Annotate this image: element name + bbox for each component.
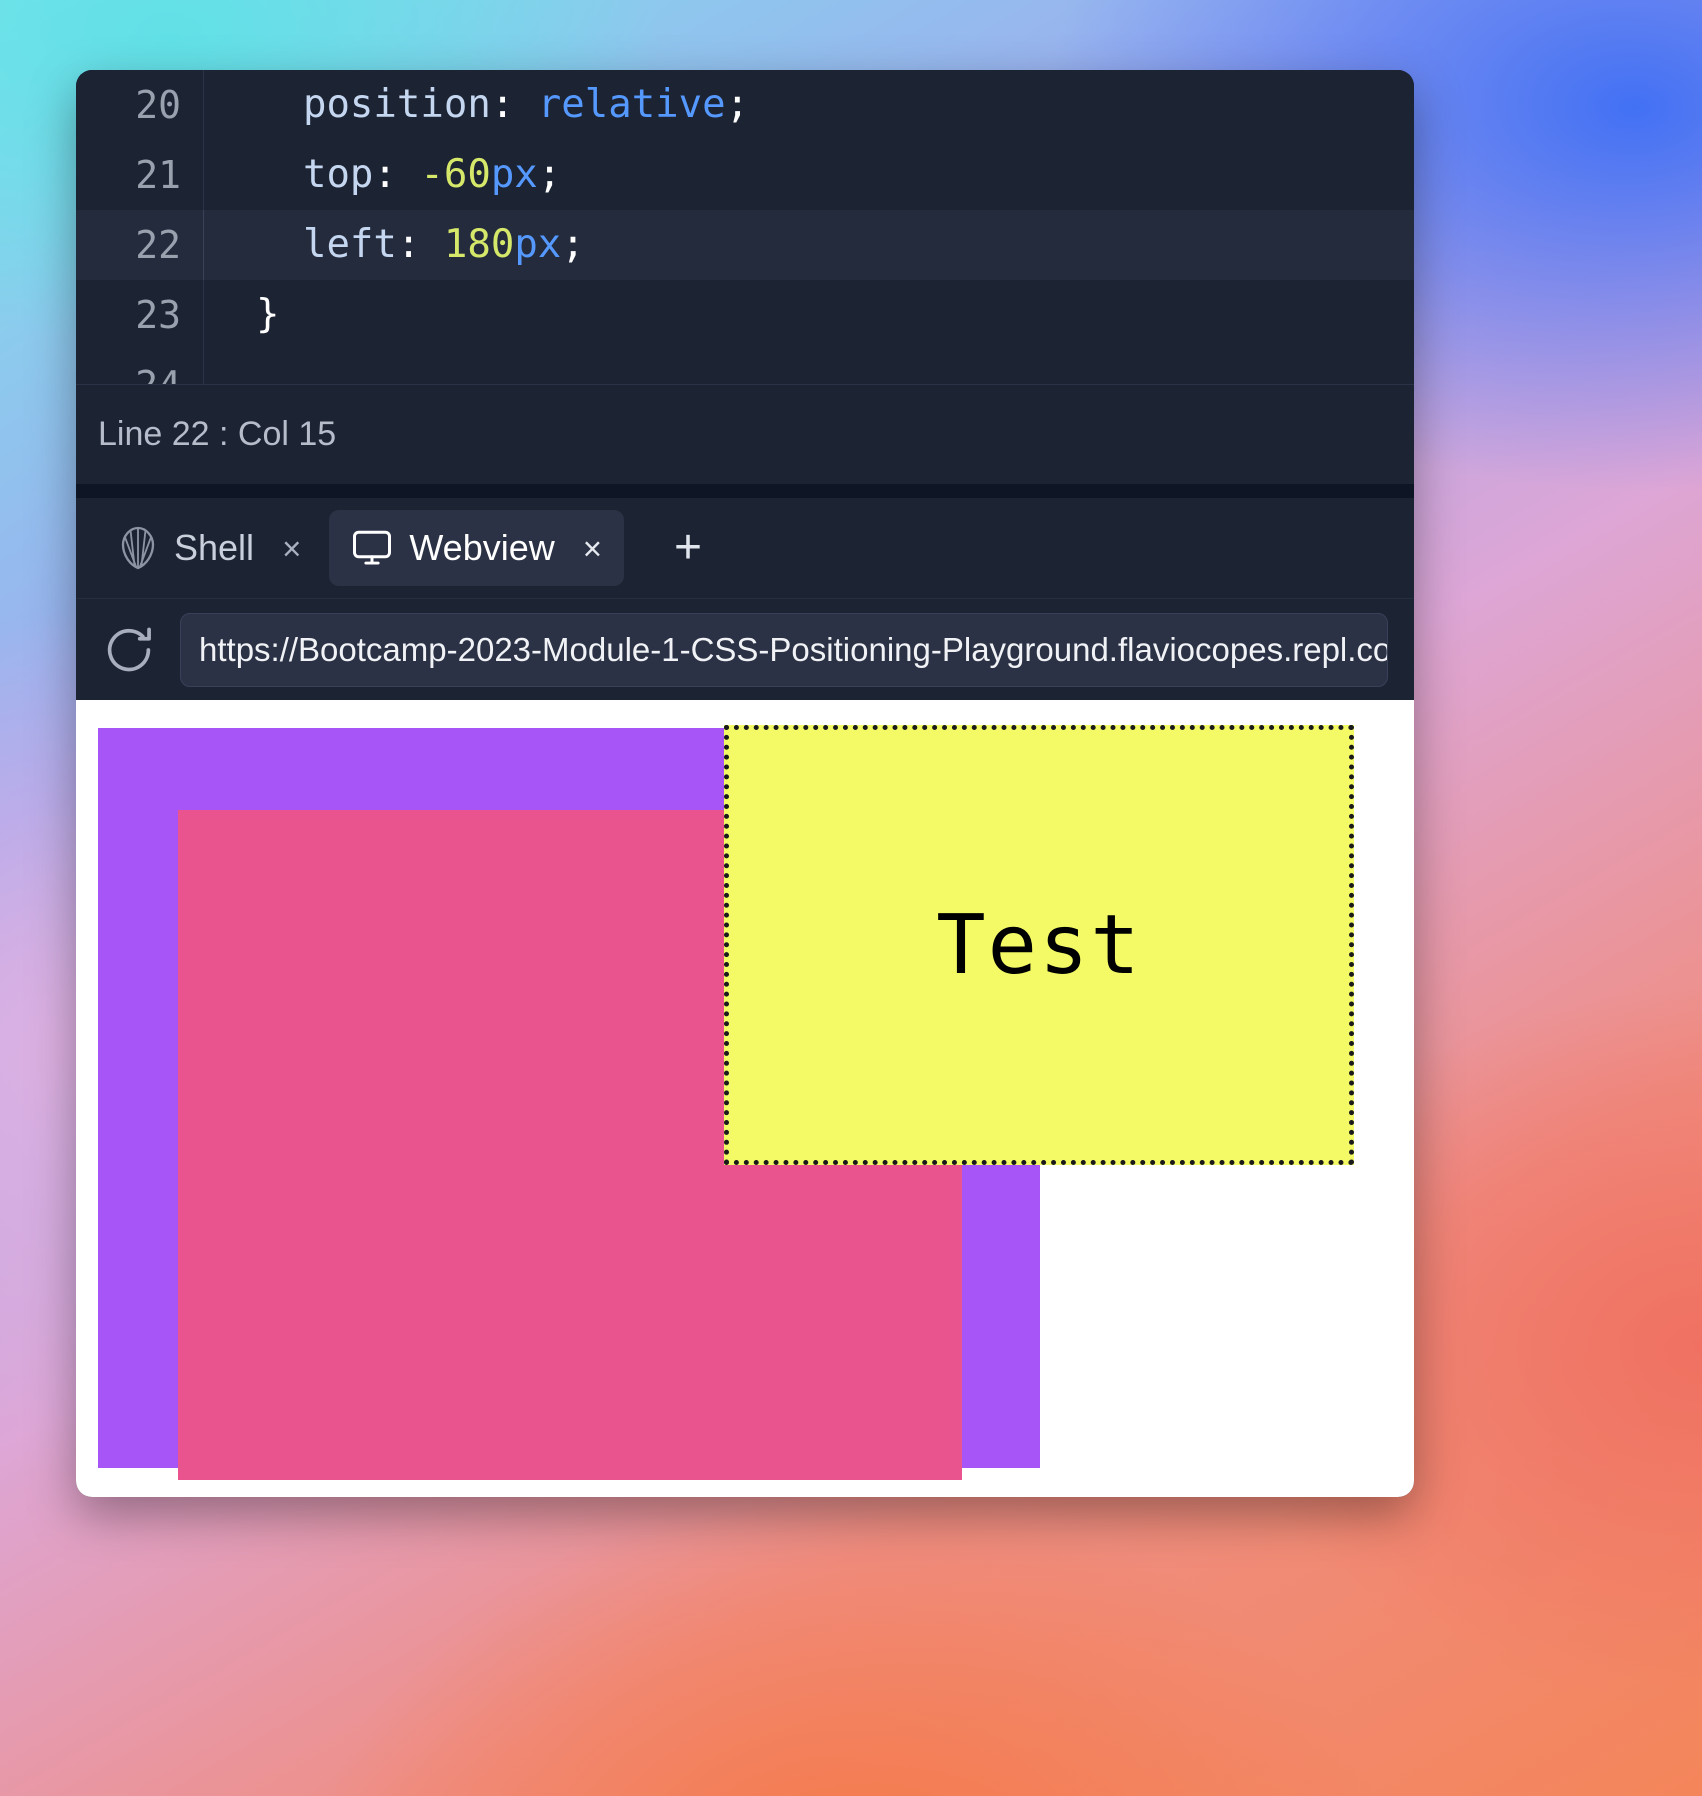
tab-webview-close-icon[interactable]: × (583, 532, 602, 565)
code-line[interactable]: 24 (76, 350, 1414, 384)
ide-window: 20 position: relative;21 top: -60px;22 l… (76, 70, 1414, 1497)
line-number: 20 (76, 70, 204, 140)
code-token: ; (538, 152, 561, 197)
url-input[interactable]: https://Bootcamp-2023-Module-1-CSS-Posit… (180, 613, 1388, 687)
code-token: } (256, 292, 279, 337)
code-token: : (491, 82, 538, 127)
cursor-position-status: Line 22 : Col 15 (98, 415, 336, 454)
desktop-background: 20 position: relative;21 top: -60px;22 l… (0, 0, 1702, 1796)
console-tab-bar: Shell × Webview × + (76, 498, 1414, 598)
reload-icon[interactable] (98, 619, 160, 681)
tab-webview-label: Webview (409, 527, 554, 569)
code-line[interactable]: 20 position: relative; (76, 70, 1414, 140)
code-editor[interactable]: 20 position: relative;21 top: -60px;22 l… (76, 70, 1414, 384)
yellow-box-label: Test (936, 898, 1141, 993)
editor-status-bar: Line 22 : Col 15 (76, 384, 1414, 484)
code-token: 180 (444, 222, 514, 267)
add-tab-button[interactable]: + (658, 518, 718, 578)
tab-webview[interactable]: Webview × (329, 510, 624, 586)
code-token: : (373, 152, 420, 197)
code-line-text: } (204, 280, 279, 350)
code-line[interactable]: 22 left: 180px; (76, 210, 1414, 280)
code-line-text: top: -60px; (204, 140, 561, 210)
code-token: px (514, 222, 561, 267)
code-line[interactable]: 21 top: -60px; (76, 140, 1414, 210)
code-token: px (491, 152, 538, 197)
code-line-text: position: relative; (204, 70, 749, 140)
code-token: ; (561, 222, 584, 267)
shell-icon (118, 526, 158, 570)
line-number: 23 (76, 280, 204, 350)
yellow-box: Test (724, 725, 1354, 1165)
line-number: 24 (76, 350, 204, 384)
code-token: left (256, 222, 397, 267)
line-number: 21 (76, 140, 204, 210)
code-token: : (397, 222, 444, 267)
code-line-text: left: 180px; (204, 210, 585, 280)
code-token: ; (726, 82, 749, 127)
code-token: -60 (420, 152, 490, 197)
code-token: top (256, 152, 373, 197)
pane-divider (76, 484, 1414, 498)
webview-viewport[interactable]: Test (76, 700, 1414, 1497)
tab-shell-close-icon[interactable]: × (282, 532, 301, 565)
browser-url-bar: https://Bootcamp-2023-Module-1-CSS-Posit… (76, 598, 1414, 700)
monitor-icon (351, 528, 393, 568)
line-number: 22 (76, 210, 204, 280)
code-token: relative (538, 82, 726, 127)
tab-shell-label: Shell (174, 527, 254, 569)
code-line[interactable]: 23} (76, 280, 1414, 350)
code-token: position (256, 82, 491, 127)
tab-shell[interactable]: Shell × (96, 510, 323, 586)
